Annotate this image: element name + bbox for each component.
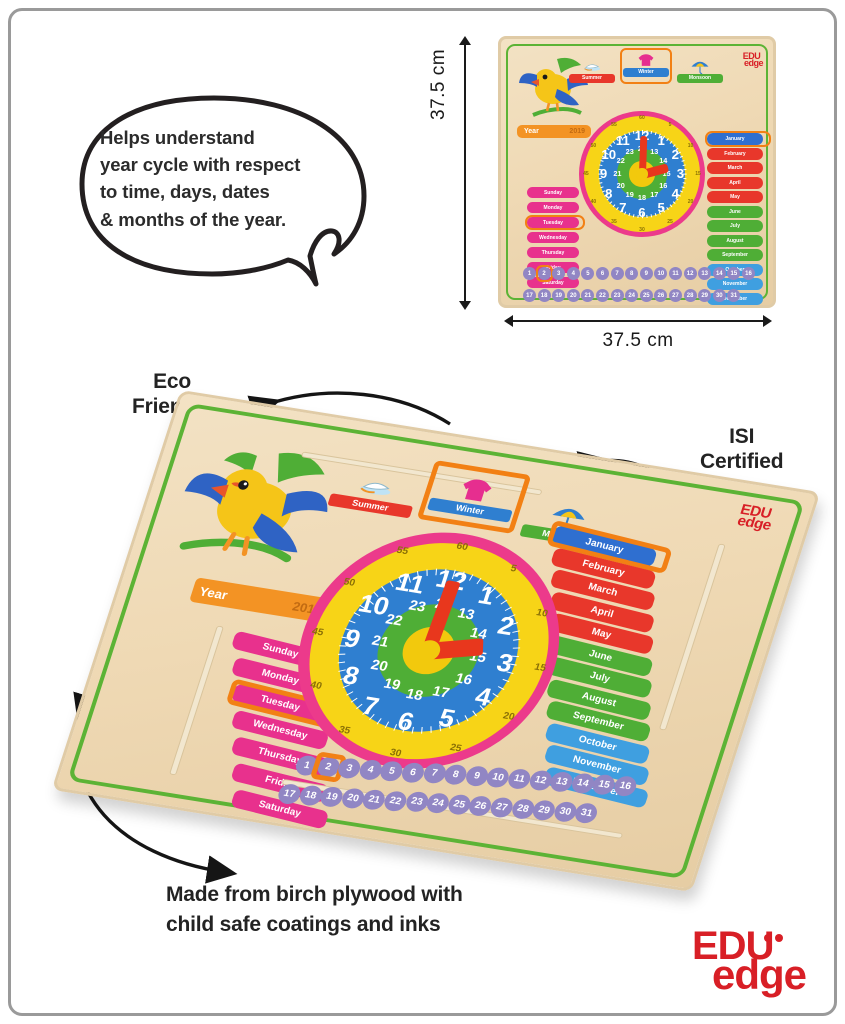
edu-edge-footer-logo: EDU edge xyxy=(690,930,815,1000)
clock-minute-10: 10 xyxy=(686,143,695,149)
material-line-1: Made from birch plywood with xyxy=(166,883,463,906)
date-option-4[interactable]: 4 xyxy=(567,267,580,280)
clock-minute-40: 40 xyxy=(589,199,598,205)
day-option-monday[interactable]: Monday xyxy=(527,202,579,213)
logo-umlaut-icon xyxy=(764,932,786,945)
date-option-27[interactable]: 27 xyxy=(669,289,682,302)
dimension-width-arrow xyxy=(512,320,764,322)
clock-minute-20: 20 xyxy=(686,199,695,205)
clock-hour24-16: 16 xyxy=(657,182,670,191)
clock-minute-30: 30 xyxy=(637,227,646,233)
season-label: Summer xyxy=(569,74,615,83)
season-label: Monsoon xyxy=(677,74,723,83)
clock-minute-55: 55 xyxy=(609,122,618,128)
board-brand-logo: EDU edge xyxy=(740,53,763,68)
clock-hour-9: 9 xyxy=(595,166,613,181)
clock-hour-11: 11 xyxy=(614,133,632,148)
material-line-2: child safe coatings and inks xyxy=(166,913,440,936)
day-option-thursday[interactable]: Thursday xyxy=(527,247,579,258)
clock-hour24-20: 20 xyxy=(614,182,627,191)
clock-hour-6: 6 xyxy=(633,205,651,220)
day-selected-knob[interactable] xyxy=(525,215,585,230)
bubble-line-1: Helps understand xyxy=(100,124,368,151)
product-board-main: EDU edge Year 2019 xyxy=(86,432,786,882)
clock-minute-15: 15 xyxy=(693,171,702,177)
date-option-24[interactable]: 24 xyxy=(625,289,638,302)
year-label-main: Year xyxy=(191,582,230,601)
date-option-12[interactable]: 12 xyxy=(684,267,697,280)
dimension-height-arrow xyxy=(464,44,466,302)
bubble-line-4: & months of the year. xyxy=(100,206,368,233)
speech-bubble-text: Helps understand year cycle with respect… xyxy=(100,124,368,233)
date-option-16[interactable]: 16 xyxy=(742,267,755,280)
date-option-7[interactable]: 7 xyxy=(611,267,624,280)
clock-hour24-23: 23 xyxy=(623,148,636,157)
day-option-wednesday[interactable]: Wednesday xyxy=(527,232,579,243)
date-option-25[interactable]: 25 xyxy=(640,289,653,302)
dimension-width-label: 37.5 cm xyxy=(512,330,764,352)
date-option-23[interactable]: 23 xyxy=(611,289,624,302)
month-selected-knob[interactable] xyxy=(705,131,771,147)
clock-hour-7: 7 xyxy=(614,200,632,215)
clock-minute-35: 35 xyxy=(609,219,618,225)
speech-bubble: Helps understand year cycle with respect… xyxy=(64,92,384,292)
bubble-line-3: to time, days, dates xyxy=(100,178,368,205)
year-selector-small[interactable]: Year 2019 xyxy=(517,125,591,138)
date-option-26[interactable]: 26 xyxy=(654,289,667,302)
year-label: Year xyxy=(517,128,539,135)
month-option-june[interactable]: June xyxy=(707,206,763,218)
season-option-monsoon[interactable]: Monsoon xyxy=(677,57,723,83)
product-board-small: EDU edge Year 2019 SummerWinterMonsoon S… xyxy=(498,36,776,308)
date-selected-knob[interactable] xyxy=(536,265,553,282)
month-option-september[interactable]: September xyxy=(707,249,763,261)
clock-minute-50: 50 xyxy=(589,143,598,149)
season-option-winter[interactable]: Winter xyxy=(623,51,669,77)
clock-hour24-18: 18 xyxy=(636,194,649,203)
date-option-21[interactable]: 21 xyxy=(581,289,594,302)
clock-hour24-17: 17 xyxy=(648,191,661,200)
logo-edge-text: edge xyxy=(712,958,806,992)
year-value: 2019 xyxy=(569,128,591,135)
sun-beach-icon xyxy=(579,57,605,74)
month-option-august[interactable]: August xyxy=(707,235,763,247)
clock-hour-3: 3 xyxy=(672,166,690,181)
date-option-9[interactable]: 9 xyxy=(640,267,653,280)
month-option-april[interactable]: April xyxy=(707,177,763,189)
umbrella-icon xyxy=(687,57,713,74)
clock-tick xyxy=(338,653,345,654)
month-option-march[interactable]: March xyxy=(707,162,763,174)
clock-minute-60: 60 xyxy=(637,115,646,121)
season-label: Winter xyxy=(623,68,669,77)
date-option-28[interactable]: 28 xyxy=(684,289,697,302)
date-option-11[interactable]: 11 xyxy=(669,267,682,280)
date-option-22[interactable]: 22 xyxy=(596,289,609,302)
clock-minute-25: 25 xyxy=(665,219,674,225)
month-option-february[interactable]: February xyxy=(707,148,763,160)
clock-hour-1: 1 xyxy=(652,133,670,148)
clock-hour24-21: 21 xyxy=(611,170,624,179)
clock-hour24-19: 19 xyxy=(623,191,636,200)
season-option-summer[interactable]: Summer xyxy=(569,57,615,83)
bubble-line-2: year cycle with respect xyxy=(100,151,368,178)
clock-center-pin xyxy=(636,168,647,179)
date-option-18[interactable]: 18 xyxy=(538,289,551,302)
clock-face-small[interactable]: 5101520253035404550556012123456789101124… xyxy=(579,111,705,237)
material-note: Made from birch plywood with child safe … xyxy=(166,880,463,941)
date-option-17[interactable]: 17 xyxy=(523,289,536,302)
date-option-1[interactable]: 1 xyxy=(523,267,536,280)
date-option-19[interactable]: 19 xyxy=(552,289,565,302)
month-option-july[interactable]: July xyxy=(707,220,763,232)
dimension-height-label: 37.5 cm xyxy=(428,49,450,120)
clock-hour-5: 5 xyxy=(652,200,670,215)
clock-hour24-22: 22 xyxy=(614,157,627,166)
date-option-6[interactable]: 6 xyxy=(596,267,609,280)
day-option-sunday[interactable]: Sunday xyxy=(527,187,579,198)
month-option-may[interactable]: May xyxy=(707,191,763,203)
clock-minute-45: 45 xyxy=(581,171,590,177)
board-brand-logo-main: EDU edge xyxy=(732,504,776,533)
date-option-14[interactable]: 14 xyxy=(713,267,726,280)
eco-line-1: Eco xyxy=(153,370,191,393)
clock-minute-5: 5 xyxy=(665,122,674,128)
date-option-30[interactable]: 30 xyxy=(713,289,726,302)
sweater-icon xyxy=(633,51,659,68)
date-option-20[interactable]: 20 xyxy=(567,289,580,302)
clock-tick xyxy=(513,647,520,648)
